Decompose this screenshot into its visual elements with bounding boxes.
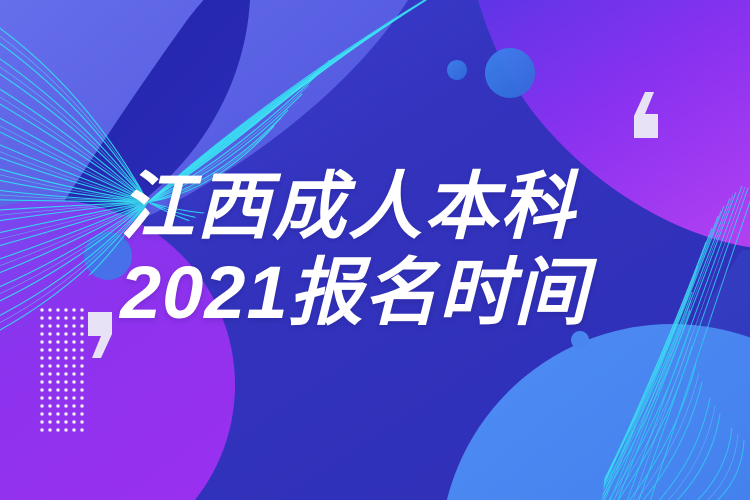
promo-banner: 江西成人本科 2021报名时间 (0, 0, 750, 500)
dot-matrix-decoration (40, 308, 84, 434)
quote-mark-top-right-icon (630, 92, 662, 138)
quote-mark-bottom-left-icon (84, 312, 116, 358)
background-artwork (0, 0, 750, 500)
